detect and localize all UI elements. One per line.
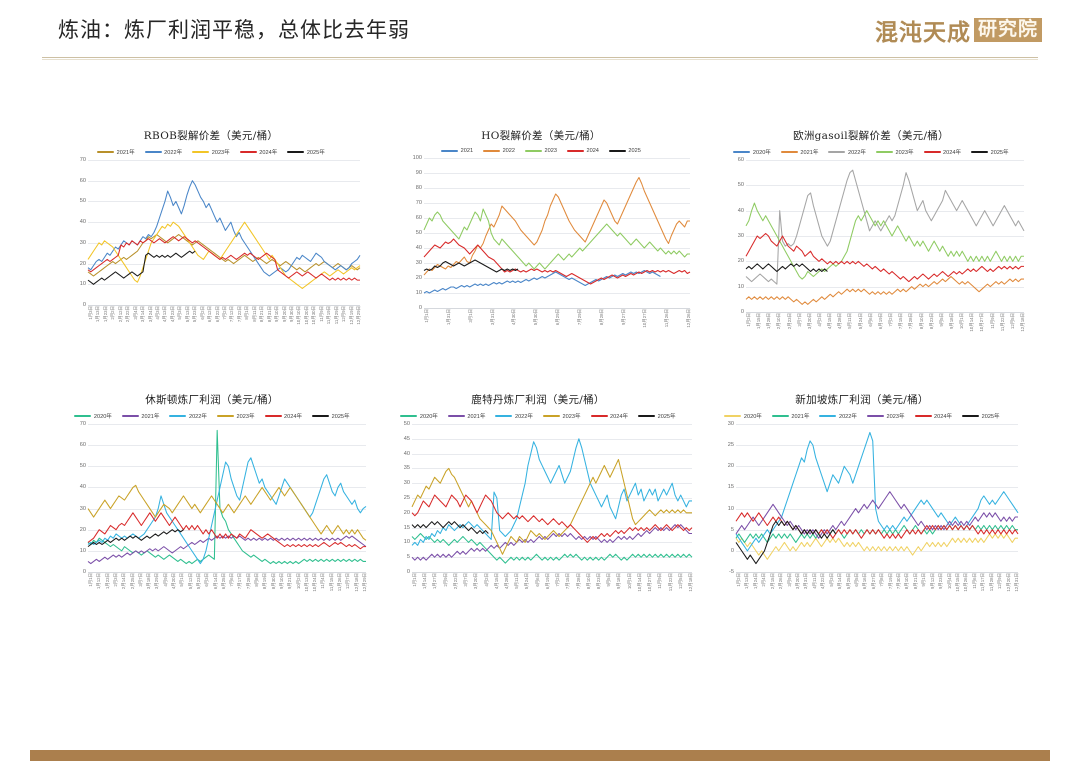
x-axis-tick-label: 2月23日 [787,313,793,329]
x-axis-tick-label: 10月27日 [979,313,985,332]
x-axis-tick-label: 10月10日 [296,306,302,325]
chart-title: 休斯顿炼厂利润（美元/桶） [58,392,366,407]
x-axis-tick-label: 11月15日 [329,573,335,591]
y-axis-tick-label: 20 [80,261,88,267]
series-lines [736,424,1018,572]
legend-label: 2023年 [237,412,255,420]
y-axis-tick-label: 10 [404,539,412,545]
legend-color-swatch [97,151,114,154]
x-axis-tick-label: 7月28日 [246,573,252,589]
legend-item[interactable]: 2024年 [240,148,278,156]
x-axis-tick-label: 3月20日 [473,573,479,589]
y-axis-tick-label: 40 [404,451,412,457]
y-axis-tick-label: 15 [728,484,736,490]
legend-color-swatch [265,415,282,418]
x-axis-tick-label: 6月2日 [200,306,206,320]
plot-area: 01020304050601月2日1月15日1月28日2月10日2月23日3月7… [746,160,1024,312]
x-axis-tick-label: 7月29日 [577,309,583,325]
legend-item[interactable]: 2021 [441,148,473,154]
y-axis-tick-label: 40 [738,208,746,214]
x-axis-ticks: 1月2日1月13日1月24日2月4日2月15日2月26日3月9日3月20日3月3… [736,572,1018,606]
x-axis-tick-label: 10月4日 [947,573,953,589]
x-axis-tick-label: 4月23日 [170,306,176,322]
x-axis-tick-label: 4月2日 [484,573,490,587]
y-axis-tick-label: 60 [738,157,746,163]
legend-color-swatch [724,415,741,418]
legend-label: 2024年 [934,412,952,420]
legend-item[interactable]: 2024年 [265,412,303,420]
y-axis-tick-label: 30 [728,421,736,427]
x-axis-tick-label: 1月27日 [432,573,438,589]
y-axis-tick-label: 40 [80,219,88,225]
y-axis-tick-label: 30 [80,506,88,512]
x-axis-tick-label: 7月12日 [229,306,235,322]
y-axis-tick-label: 10 [80,548,88,554]
legend-label: 2020年 [744,412,762,420]
y-axis-tick-label: 70 [80,421,88,427]
legend-color-swatch [483,150,500,153]
series-line [736,521,836,563]
legend-item[interactable]: 2024年 [924,148,962,156]
series-lines [88,160,360,305]
x-axis-tick-label: 1月1日 [412,573,418,587]
x-axis-tick-label: 1月3日 [88,306,94,320]
x-axis-tick-label: 10月1日 [959,313,965,329]
legend-label: 2022年 [848,148,866,156]
legend-color-swatch [122,415,139,418]
legend-item[interactable]: 2024 [567,148,599,154]
x-axis-tick-label: 5月23日 [196,573,202,589]
x-axis-tick-label: 12月26日 [686,309,692,328]
x-axis-tick-label: 10月27日 [642,309,648,328]
legend-item[interactable]: 2023年 [876,148,914,156]
legend-color-swatch [591,415,608,418]
x-axis-tick-label: 2月3日 [113,573,119,587]
x-axis-tick-label: 5月30日 [533,309,539,325]
y-axis-tick-label: 30 [404,480,412,486]
series-lines [746,160,1024,312]
legend-label: 2025年 [991,148,1009,156]
x-axis-tick-label: 11月22日 [1000,313,1006,331]
legend-label: 2021年 [117,148,135,156]
x-axis-tick-label: 11月26日 [337,573,343,591]
legend-item[interactable]: 2022年 [169,412,207,420]
y-axis-tick-label: 50 [404,421,412,427]
x-axis-tick-label: 4月15日 [827,313,833,329]
legend-color-swatch [733,151,750,154]
y-axis-tick-label: 10 [728,506,736,512]
legend-label: 2021年 [800,148,818,156]
x-axis-tick-label: 2月14日 [121,573,127,589]
x-axis-tick-label: 9月18日 [949,313,955,329]
x-axis-tick-label: 8月21日 [259,306,265,322]
chart-rotterdam-refinery-margin: 鹿特丹炼厂利润（美元/桶）2020年2021年2022年2023年2024年20… [384,392,692,572]
y-axis-tick-label: 40 [416,245,424,251]
series-line [736,525,1018,542]
x-axis-tick-label: 9月1日 [921,573,927,587]
y-axis-tick-label: 60 [416,215,424,221]
x-axis-tick-label: 6月12日 [207,306,213,322]
legend-label: 2025年 [307,148,325,156]
legend-color-swatch [638,415,655,418]
series-line [412,522,488,534]
legend-item[interactable]: 2023年 [217,412,255,420]
footer-accent-bar [30,750,1050,761]
x-axis-ticks: 1月2日1月15日1月28日2月10日2月23日3月7日3月20日4月2日4月1… [746,312,1024,346]
y-axis-tick-label: 30 [738,233,746,239]
y-axis-tick-label: 80 [416,185,424,191]
x-axis-tick-label: 1月1日 [424,309,430,323]
x-axis-tick-label: 7月6日 [229,573,235,587]
chart-title: 鹿特丹炼厂利润（美元/桶） [384,392,692,407]
y-axis-tick-label: 20 [738,258,746,264]
chart-legend: 2020年2021年2022年2023年2024年2025年 [384,412,692,420]
y-axis-tick-label: 20 [80,527,88,533]
x-axis-tick-label: 10月14日 [969,313,975,332]
legend-item[interactable]: 2023年 [543,412,581,420]
y-axis-tick-label: 50 [738,182,746,188]
series-line [424,178,690,276]
series-line [88,458,366,564]
x-axis-tick-label: 9月23日 [938,573,944,589]
x-axis-tick-label: 4月9日 [163,573,169,587]
series-line [88,513,366,549]
y-axis-tick-label: 100 [413,155,424,161]
x-axis-tick-label: 10月14日 [637,573,643,592]
x-axis-tick-label: 3月4日 [133,306,139,320]
legend-label: 2024年 [259,148,277,156]
x-axis-ticks: 1月3日1月13日1月23日2月2日2月12日2月22日3月4日3月14日3月2… [88,305,360,339]
x-axis-tick-label: 11月4日 [320,573,326,589]
legend-label: 2025年 [982,412,1000,420]
legend-item[interactable]: 2021年 [448,412,486,420]
x-axis-tick-label: 2月22日 [125,306,131,322]
x-axis-tick-label: 9月30日 [289,306,295,322]
legend-item[interactable]: 2025 [609,148,641,154]
x-axis-tick-label: 7月19日 [888,573,894,589]
series-line [746,264,827,272]
x-axis-tick-label: 2月26日 [778,573,784,589]
legend-item[interactable]: 2025年 [962,412,1000,420]
legend-color-swatch [441,150,458,153]
y-axis-tick-label: 70 [80,157,88,163]
legend-item[interactable]: 2020年 [724,412,762,420]
legend-label: 2024年 [610,412,628,420]
x-axis-tick-label: 3月1日 [468,309,474,323]
x-axis-tick-label: 3月14日 [140,306,146,322]
legend-label: 2020年 [753,148,771,156]
logo-main-text: 混沌天成 [875,13,971,47]
x-axis-tick-label: 10月2日 [296,573,302,589]
x-axis-tick-label: 6月16日 [862,573,868,589]
legend-label: 2024 [586,148,598,154]
x-axis-tick-label: 4月15日 [494,573,500,589]
page-title: 炼油：炼厂利润平稳，总体比去年弱 [58,14,410,44]
legend-label: 2022 [503,148,515,154]
legend-label: 2022年 [515,412,533,420]
x-axis-tick-label: 11月9日 [657,573,663,589]
legend-color-swatch [915,415,932,418]
x-axis-tick-label: 11月29日 [334,306,340,324]
x-axis-tick-label: 2月25日 [130,573,136,589]
x-axis-tick-label: 1月2日 [746,313,752,327]
y-axis-tick-label: 10 [738,284,746,290]
x-axis-tick-label: 12月5日 [678,573,684,589]
series-line [88,430,366,563]
x-axis-tick-label: 5月13日 [185,306,191,322]
x-axis-tick-label: 11月22日 [668,573,674,591]
y-axis-tick-label: 90 [416,170,424,176]
x-axis-tick-label: 8月10日 [919,313,925,329]
x-axis-tick-label: 2月9日 [443,573,449,587]
x-axis-tick-label: 2月2日 [110,306,116,320]
x-axis-tick-label: 10月24日 [312,573,318,592]
legend-item[interactable]: 2022 [483,148,515,154]
legend-color-swatch [217,415,234,418]
y-axis-tick-label: 20 [416,275,424,281]
x-axis-tick-label: 10月27日 [647,573,653,592]
chart-legend: 20212022202320242025 [392,148,690,154]
legend-color-swatch [819,415,836,418]
x-axis-tick-label: 8月10日 [904,573,910,589]
legend-item[interactable]: 2025年 [638,412,676,420]
x-axis-tick-label: 10月15日 [955,573,961,592]
x-axis-tick-label: 4月20日 [171,573,177,589]
x-axis-tick-label: 8月10日 [586,573,592,589]
legend-color-swatch [543,415,560,418]
x-axis-tick-label: 4月22日 [820,573,826,589]
x-axis-tick-label: 7月15日 [565,573,571,589]
x-axis-tick-label: 12月9日 [341,306,347,322]
x-axis-tick-label: 3月7日 [797,313,803,327]
page-header: 炼油：炼厂利润平稳，总体比去年弱 混沌天成 研究院 [0,0,1080,60]
legend-item[interactable]: 2025年 [971,148,1009,156]
chart-legend: 2020年2021年2022年2023年2024年2025年 [718,148,1024,156]
legend-item[interactable]: 2021年 [781,148,819,156]
x-axis-tick-label: 6月3日 [204,573,210,587]
x-axis-tick-label: 12月20日 [1006,573,1012,592]
chart-title: RBOB裂解价差（美元/桶） [62,128,360,143]
x-axis-tick-label: 6月6日 [535,573,541,587]
x-axis-tick-label: 10月13日 [304,573,310,592]
x-axis-ticks: 1月1日1月31日3月1日3月31日4月30日5月30日6月29日7月29日8月… [424,308,690,342]
series-line [736,534,1018,559]
x-axis-tick-label: 7月2日 [555,573,561,587]
legend-item[interactable]: 2021年 [97,148,135,156]
chart-houston-refinery-margin: 休斯顿炼厂利润（美元/桶）2020年2021年2022年2023年2024年20… [58,392,366,572]
y-axis-tick-label: 20 [404,510,412,516]
x-axis-tick-label: 3月7日 [463,573,469,587]
x-axis-tick-label: 12月9日 [997,573,1003,589]
legend-label: 2021年 [791,412,809,420]
x-axis-tick-label: 8月1日 [244,306,250,320]
chart-legend: 2020年2021年2022年2023年2024年2025年 [706,412,1018,420]
y-axis-tick-label: 10 [80,281,88,287]
x-axis-tick-label: 3月31日 [803,573,809,589]
y-axis-tick-label: 35 [404,465,412,471]
x-axis-tick-label: 4月3日 [155,306,161,320]
x-axis-tick-label: 2月4日 [761,573,767,587]
x-axis-tick-label: 4月30日 [511,309,517,325]
legend-label: 2024年 [284,412,302,420]
x-axis-tick-label: 1月24日 [753,573,759,589]
x-axis-tick-label: 3月7日 [138,573,144,587]
legend-item[interactable]: 2022年 [819,412,857,420]
chart-singapore-refinery-margin: 新加坡炼厂利润（美元/桶）2020年2021年2022年2023年2024年20… [706,392,1018,572]
x-axis-tick-label: 3月20日 [795,573,801,589]
series-line [424,239,690,284]
x-axis-tick-label: 10月30日 [311,306,317,325]
x-axis-tick-label: 5月12日 [188,573,194,589]
plot-area: 01020304050607080901001月1日1月31日3月1日3月31日… [424,158,690,308]
x-axis-tick-label: 12月31日 [1014,573,1020,592]
y-axis-tick-label: 30 [80,240,88,246]
series-line [424,209,690,269]
x-axis-tick-label: 11月6日 [972,573,978,589]
legend-color-swatch [924,151,941,154]
legend-color-swatch [609,150,626,153]
legend-label: 2023年 [896,148,914,156]
series-line [736,432,1018,550]
x-axis-tick-label: 10月20日 [304,306,310,325]
x-axis-tick-label: 9月10日 [279,573,285,589]
x-axis-tick-label: 11月28日 [989,573,995,591]
y-axis-tick-label: 30 [416,260,424,266]
x-axis-tick-label: 9月5日 [606,573,612,587]
legend-item[interactable]: 2025年 [287,148,325,156]
x-axis-tick-label: 8月11日 [252,306,258,322]
x-axis-tick-label: 7月28日 [908,313,914,329]
y-axis-tick-label: 50 [80,198,88,204]
x-axis-tick-label: 6月22日 [215,306,221,322]
x-axis-tick-label: 12月18日 [354,573,360,592]
x-axis-tick-label: 12月29日 [362,573,368,592]
y-axis-tick-label: 40 [80,484,88,490]
x-axis-tick-label: 4月11日 [812,573,818,589]
chart-title: HO裂解价差（美元/桶） [392,128,690,143]
legend-item[interactable]: 2020年 [74,412,112,420]
x-axis-tick-label: 1月14日 [422,573,428,589]
x-axis-tick-label: 8月31日 [267,306,273,322]
x-axis-tick-label: 2月10日 [776,313,782,329]
x-axis-tick-label: 9月27日 [621,309,627,325]
x-axis-tick-label: 1月2日 [736,573,742,587]
x-axis-tick-label: 7月2日 [222,306,228,320]
x-axis-tick-label: 9月10日 [274,306,280,322]
x-axis-tick-label: 8月21日 [913,573,919,589]
legend-item[interactable]: 2022年 [145,148,183,156]
legend-label: 2025年 [658,412,676,420]
x-axis-tick-label: 11月17日 [980,573,986,591]
legend-item[interactable]: 2025年 [312,412,350,420]
x-axis-tick-label: 12月7日 [345,573,351,589]
x-axis-tick-label: 1月15日 [756,313,762,329]
legend-color-swatch [145,151,162,154]
legend-label: 2022年 [189,412,207,420]
legend-label: 2025 [628,148,640,154]
y-axis-tick-label: 25 [404,495,412,501]
x-axis-tick-label: 9月5日 [939,313,945,327]
x-axis-tick-label: 9月21日 [287,573,293,589]
x-axis-tick-label: 5月3日 [177,306,183,320]
y-axis-tick-label: -5 [729,569,736,575]
x-axis-tick-label: 1月1日 [88,573,94,587]
x-axis-tick-label: 12月18日 [1020,313,1026,332]
x-axis-ticks: 1月1日1月14日1月27日2月9日2月22日3月7日3月20日4月2日4月15… [412,572,692,606]
chart-legend: 2020年2021年2022年2023年2024年2025年 [58,412,366,420]
x-axis-tick-label: 1月13日 [95,306,101,322]
x-axis-tick-label: 12月5日 [1010,313,1016,329]
y-axis-tick-label: 50 [416,230,424,236]
plot-area: 0102030405060701月3日1月13日1月23日2月2日2月12日2月… [88,160,360,305]
x-axis-tick-label: 11月9日 [319,306,325,322]
y-axis-tick-label: 25 [728,442,736,448]
x-axis-tick-label: 1月31日 [446,309,452,325]
legend-label: 2025年 [332,412,350,420]
y-axis-tick-label: 20 [728,463,736,469]
legend-label: 2023年 [563,412,581,420]
x-axis-tick-label: 8月30日 [271,573,277,589]
legend-item[interactable]: 2020年 [400,412,438,420]
x-axis-tick-label: 11月19日 [326,306,332,324]
legend-label: 2023年 [887,412,905,420]
legend-color-swatch [781,151,798,154]
legend-item[interactable]: 2020年 [733,148,771,156]
x-axis-ticks: 1月1日1月12日1月23日2月3日2月14日2月25日3月7日3月18日3月2… [88,572,366,606]
x-axis-tick-label: 1月13日 [744,573,750,589]
x-axis-tick-label: 5月23日 [192,306,198,322]
legend-item[interactable]: 2023年 [192,148,230,156]
legend-item[interactable]: 2023 [525,148,557,154]
legend-color-swatch [567,150,584,153]
x-axis-tick-label: 6月19日 [545,573,551,589]
legend-item[interactable]: 2024年 [915,412,953,420]
x-axis-tick-label: 5月3日 [829,573,835,587]
x-axis-tick-label: 8月23日 [596,573,602,589]
legend-label: 2022年 [839,412,857,420]
chart-ho-crack: HO裂解价差（美元/桶）2021202220232024202501020304… [392,128,690,308]
y-axis-tick-label: 60 [80,442,88,448]
legend-color-swatch [495,415,512,418]
x-axis-tick-label: 6月6日 [868,313,874,327]
legend-color-swatch [867,415,884,418]
legend-label: 2023年 [212,148,230,156]
legend-color-swatch [192,151,209,154]
legend-item[interactable]: 2024年 [591,412,629,420]
series-line [424,271,660,294]
chart-eu-gasoil-crack: 欧洲gasoil裂解价差（美元/桶）2020年2021年2022年2023年20… [718,128,1024,312]
plot-area: -50510152025301月2日1月13日1月24日2月4日2月15日2月2… [736,424,1018,572]
legend-color-swatch [448,415,465,418]
x-axis-tick-label: 7月28日 [576,573,582,589]
legend-item[interactable]: 2023年 [867,412,905,420]
x-axis-tick-label: 12月19日 [349,306,355,325]
chart-legend: 2021年2022年2023年2024年2025年 [62,148,360,156]
x-axis-tick-label: 2月22日 [453,573,459,589]
legend-item[interactable]: 2022年 [495,412,533,420]
plot-area: 051015202530354045501月1日1月14日1月27日2月9日2月… [412,424,692,572]
x-axis-tick-label: 7月8日 [879,573,885,587]
legend-color-swatch [169,415,186,418]
legend-item[interactable]: 2021年 [772,412,810,420]
x-axis-tick-label: 7月30日 [896,573,902,589]
y-axis-tick-label: 15 [404,525,412,531]
legend-label: 2022年 [164,148,182,156]
chart-title: 新加坡炼厂利润（美元/桶） [706,392,1018,407]
x-axis-tick-label: 7月22日 [237,306,243,322]
legend-item[interactable]: 2022年 [828,148,866,156]
legend-item[interactable]: 2021年 [122,412,160,420]
